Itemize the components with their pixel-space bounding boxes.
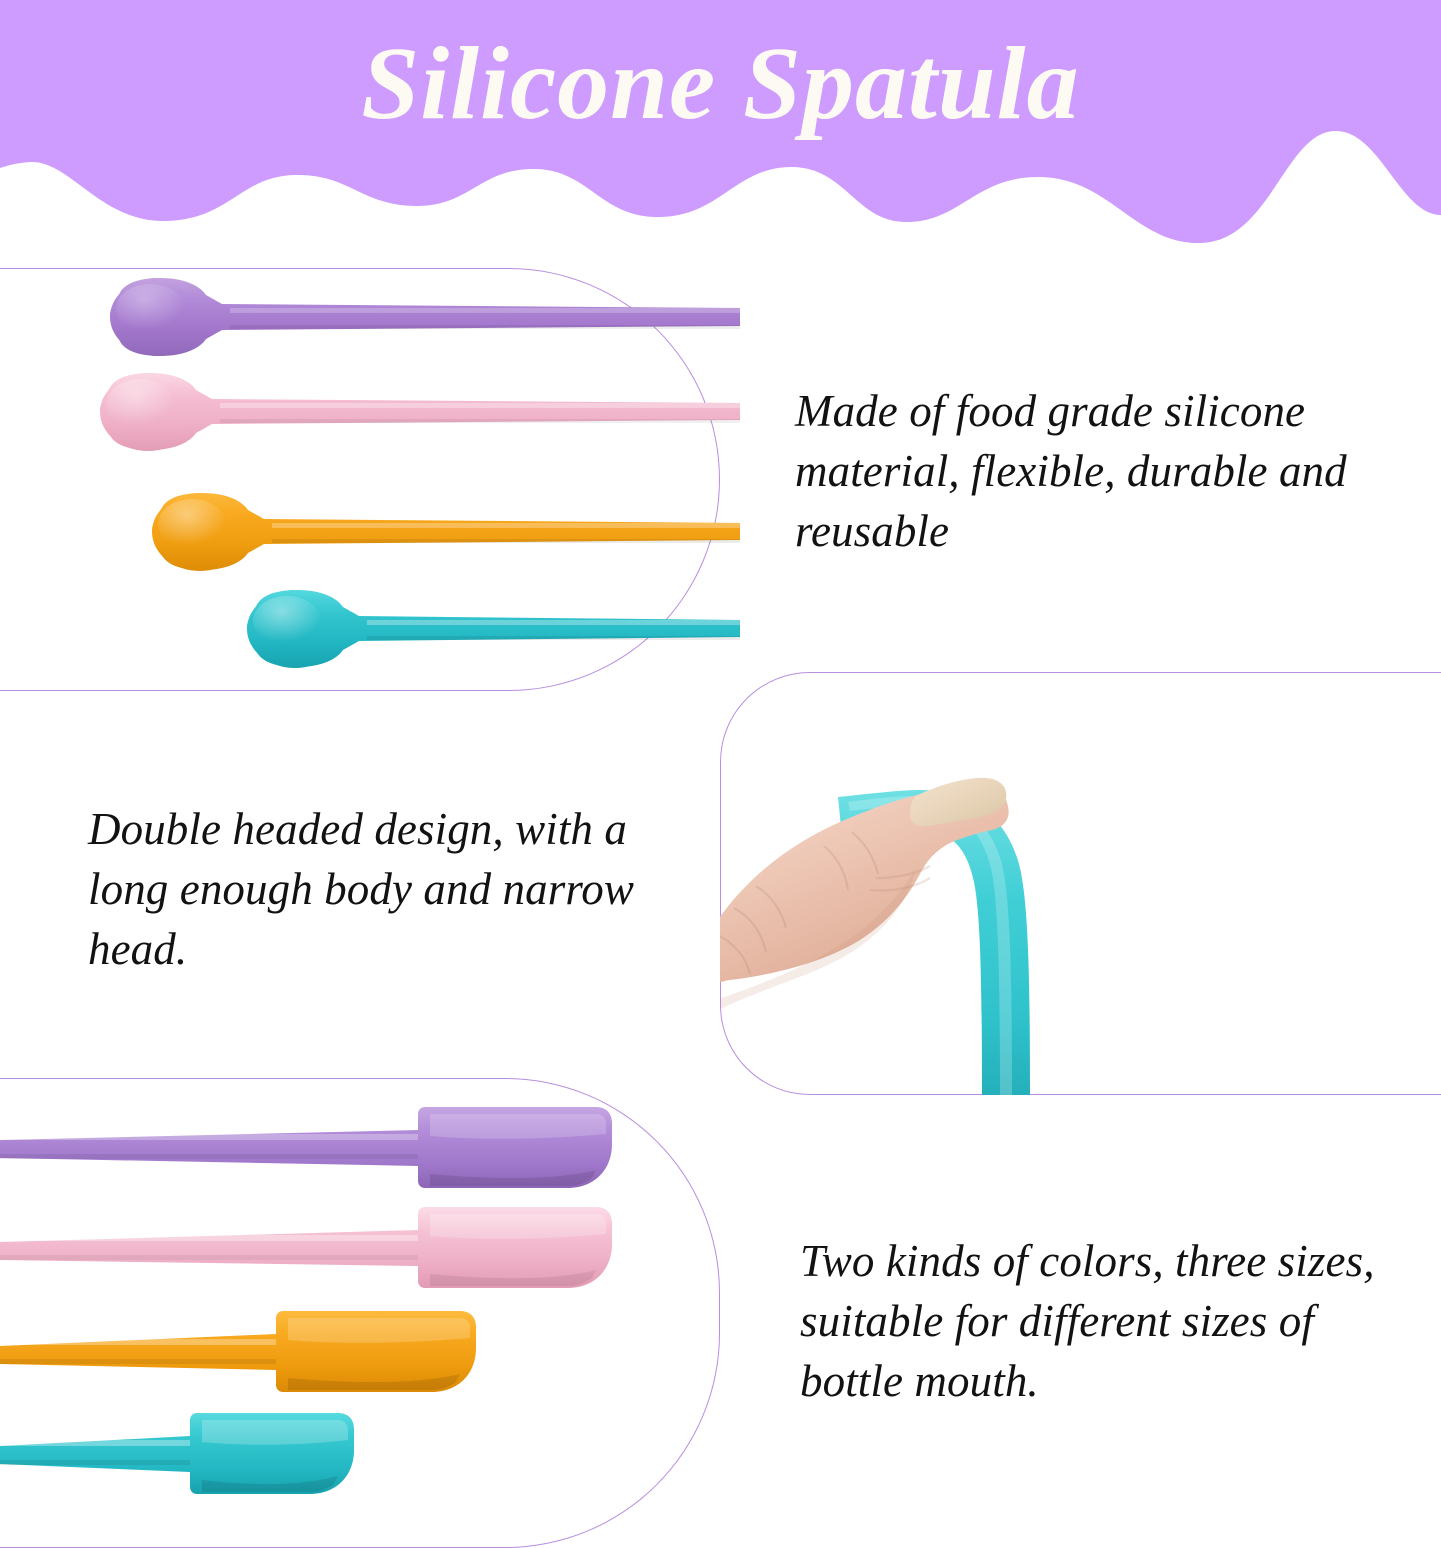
header-banner: Silicone Spatula xyxy=(0,0,1441,262)
page-title: Silicone Spatula xyxy=(0,26,1441,142)
feature-text-food-grade: Made of food grade silicone material, fl… xyxy=(795,382,1395,562)
spoon-spatulas-panel xyxy=(0,268,720,691)
flexibility-demo-panel xyxy=(720,672,1441,1095)
blade-spatulas-panel xyxy=(0,1078,720,1548)
feature-text-colors-sizes: Two kinds of colors, three sizes, suitab… xyxy=(800,1232,1390,1412)
feature-text-double-headed: Double headed design, with a long enough… xyxy=(88,800,688,980)
